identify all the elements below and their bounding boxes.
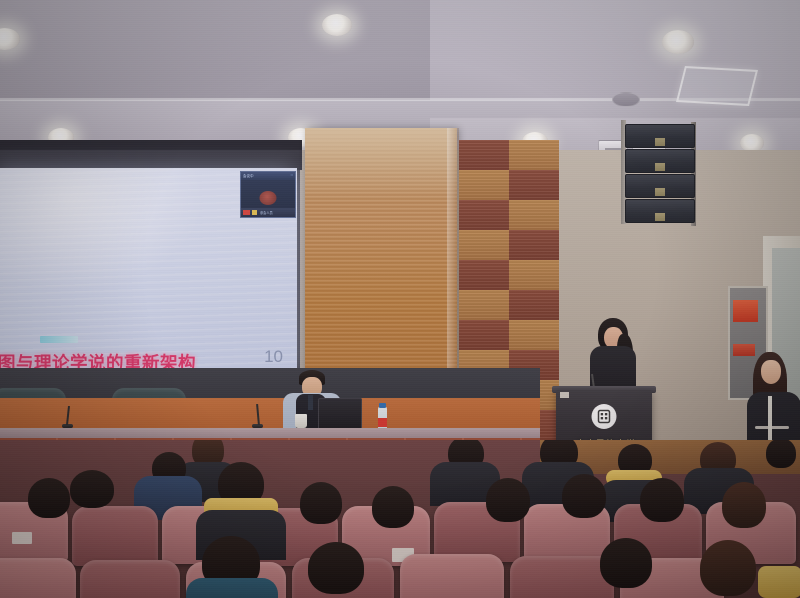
auditorium-seat[interactable] [510,556,614,598]
projector-screen-valance [0,140,302,150]
slide-page-number: 10 [264,347,283,367]
lecture-hall-photo: 板图与理论学说的重新架构 藏词 关注 主动性； 度； 的把控能力 人机传播学 人… [0,0,800,598]
ceiling-downlight-icon [662,30,694,54]
slide-tab-marker [40,336,78,343]
audience-head [308,542,364,594]
auditorium-seat[interactable] [400,554,504,598]
video-conference-window: 会议中 ▫▫ 参会人员 [240,171,296,218]
podium-name-card [560,392,569,398]
audience-area [0,440,800,598]
projection-screen: 板图与理论学说的重新架构 藏词 关注 主动性； 度； 的把控能力 人机传播学 人… [0,168,297,373]
audience-head [300,482,342,524]
crest-glyph-icon [592,404,617,429]
wood-panel-highlight [305,128,457,200]
video-participants-icon [252,210,257,215]
water-bottle-cap [379,403,386,408]
university-crest-emblem-icon [592,404,617,429]
speaker-module [625,149,695,173]
stage-backdrop [0,368,540,400]
speaker-module [625,199,695,223]
alarm-indicator-icon [733,300,758,322]
audience-head [372,486,414,528]
audience-head [600,538,652,588]
audience-head [722,482,766,528]
laptop[interactable] [318,398,362,430]
line-array-speaker-cluster [625,124,697,224]
ceiling-air-vent [612,92,640,107]
audience-bag [758,566,800,598]
audience-head [486,478,530,522]
video-record-icon [243,210,250,215]
audience-head [28,478,70,518]
head-table-panel [0,398,540,430]
audience-head [562,474,606,518]
screen-hotspot [0,168,206,291]
audience-head [70,470,114,508]
video-window-titlebar: 会议中 ▫▫ [241,172,295,180]
water-bottle-label [378,418,387,427]
auditorium-seat[interactable] [0,558,76,598]
paper-cup [295,414,307,428]
ceiling-downlight-icon [322,14,352,36]
audience-head [640,478,684,522]
video-window-title: 会议中 [243,173,254,178]
audience-head [766,440,796,468]
ceiling-panel-light [676,66,758,106]
audience-person [186,578,278,598]
video-window-controls-icon: ▫▫ [291,173,293,177]
video-window-footer-label: 参会人员 [260,210,273,215]
speaker-module [625,174,695,198]
attendee-face [761,360,781,384]
auditorium-seat[interactable] [72,506,158,566]
speaker-module [625,124,695,148]
audience-head [700,540,756,596]
audience-notes [12,532,32,544]
panelist-tie [308,395,313,410]
video-participant-avatar [260,191,277,205]
auditorium-seat[interactable] [80,560,180,598]
attendee-coat-drawstring [755,426,789,429]
